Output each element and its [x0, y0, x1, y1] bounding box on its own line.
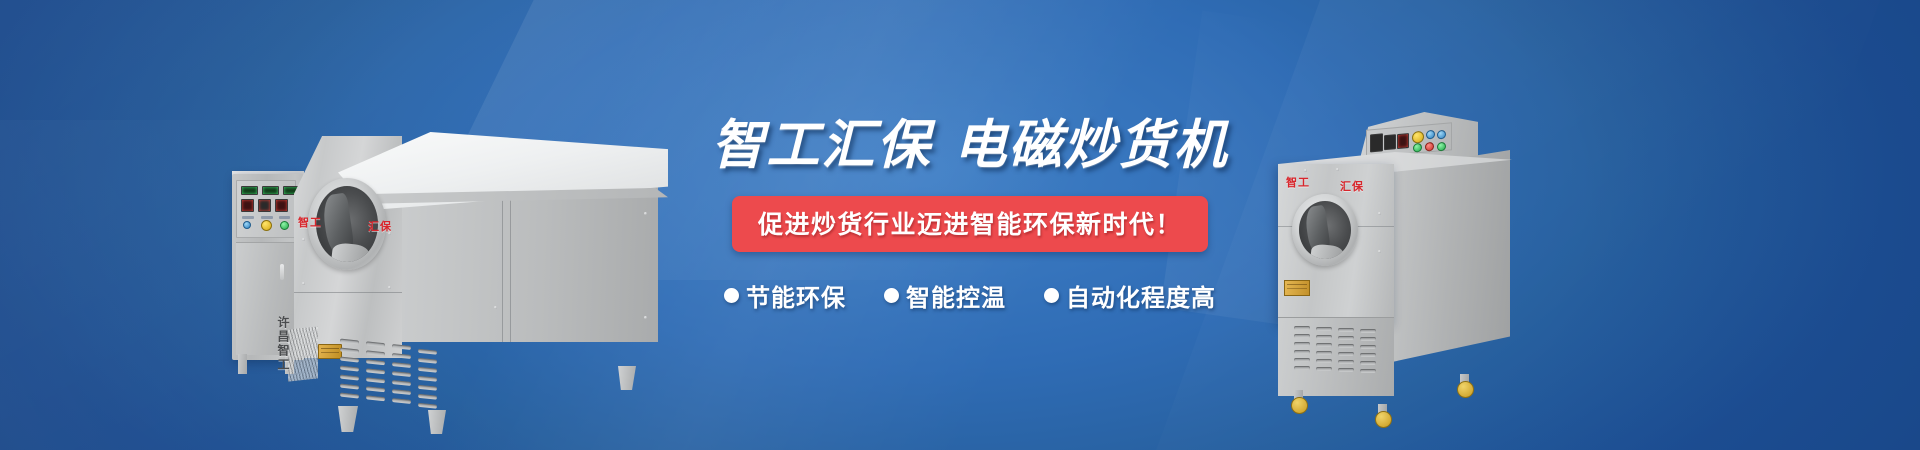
- feature-item-smart-temperature: 智能控温: [884, 278, 1006, 313]
- product-image-right-machine: 智工 汇保: [1278, 112, 1540, 422]
- right-drum-opening: [1292, 194, 1358, 266]
- left-brand-mark-1: 智工: [298, 214, 322, 230]
- left-leg-front: [338, 406, 358, 432]
- right-vent-louvers: [1294, 326, 1378, 378]
- tagline-text: 促进炒货行业迈进智能环保新时代！: [758, 211, 1182, 239]
- promo-banner: 智工 汇保: [0, 0, 1920, 450]
- tagline-ribbon: 促进炒货行业迈进智能环保新时代！: [732, 196, 1208, 252]
- filled-circle-bullet-icon: [1044, 288, 1059, 303]
- feature-list: 节能环保 智能控温 自动化程度高: [690, 278, 1250, 313]
- right-cabinet-side: [1392, 150, 1510, 362]
- left-nameplate: [318, 344, 342, 359]
- right-brand-mark-1: 智工: [1286, 174, 1310, 190]
- left-cabinet-handle[interactable]: [280, 264, 284, 280]
- right-brand-mark-2: 汇保: [1340, 178, 1364, 194]
- left-brand-mark-2: 汇保: [368, 218, 392, 234]
- feature-label: 自动化程度高: [1066, 278, 1216, 313]
- headline-part-1: 智工汇保: [712, 116, 932, 175]
- feature-label: 智能控温: [906, 278, 1006, 313]
- right-caster-rear: [1457, 381, 1474, 398]
- right-nameplate: [1284, 280, 1310, 296]
- feature-item-automation: 自动化程度高: [1044, 278, 1216, 313]
- left-control-panel: [236, 180, 296, 238]
- page-title: 智工汇保电磁炒货机: [690, 118, 1250, 174]
- right-caster-front: [1291, 397, 1308, 414]
- left-mesh-grille: [288, 326, 318, 381]
- feature-item-energy-saving: 节能环保: [724, 278, 846, 313]
- left-leg-rear: [618, 366, 636, 390]
- filled-circle-bullet-icon: [884, 288, 899, 303]
- left-leg-mid: [428, 410, 446, 434]
- left-cabinet-vertical-label: 许昌智工: [278, 316, 292, 372]
- banner-copy-block: 智工汇保电磁炒货机 促进炒货行业迈进智能环保新时代！ 节能环保 智能控温 自动化…: [690, 118, 1250, 313]
- left-vent-louvers: [340, 339, 444, 416]
- right-caster-mid: [1375, 411, 1392, 428]
- filled-circle-bullet-icon: [724, 288, 739, 303]
- product-image-left-machine: 智工 汇保 许昌智工: [232, 116, 652, 406]
- headline-part-2: 电磁炒货机: [954, 116, 1229, 175]
- feature-label: 节能环保: [746, 278, 846, 313]
